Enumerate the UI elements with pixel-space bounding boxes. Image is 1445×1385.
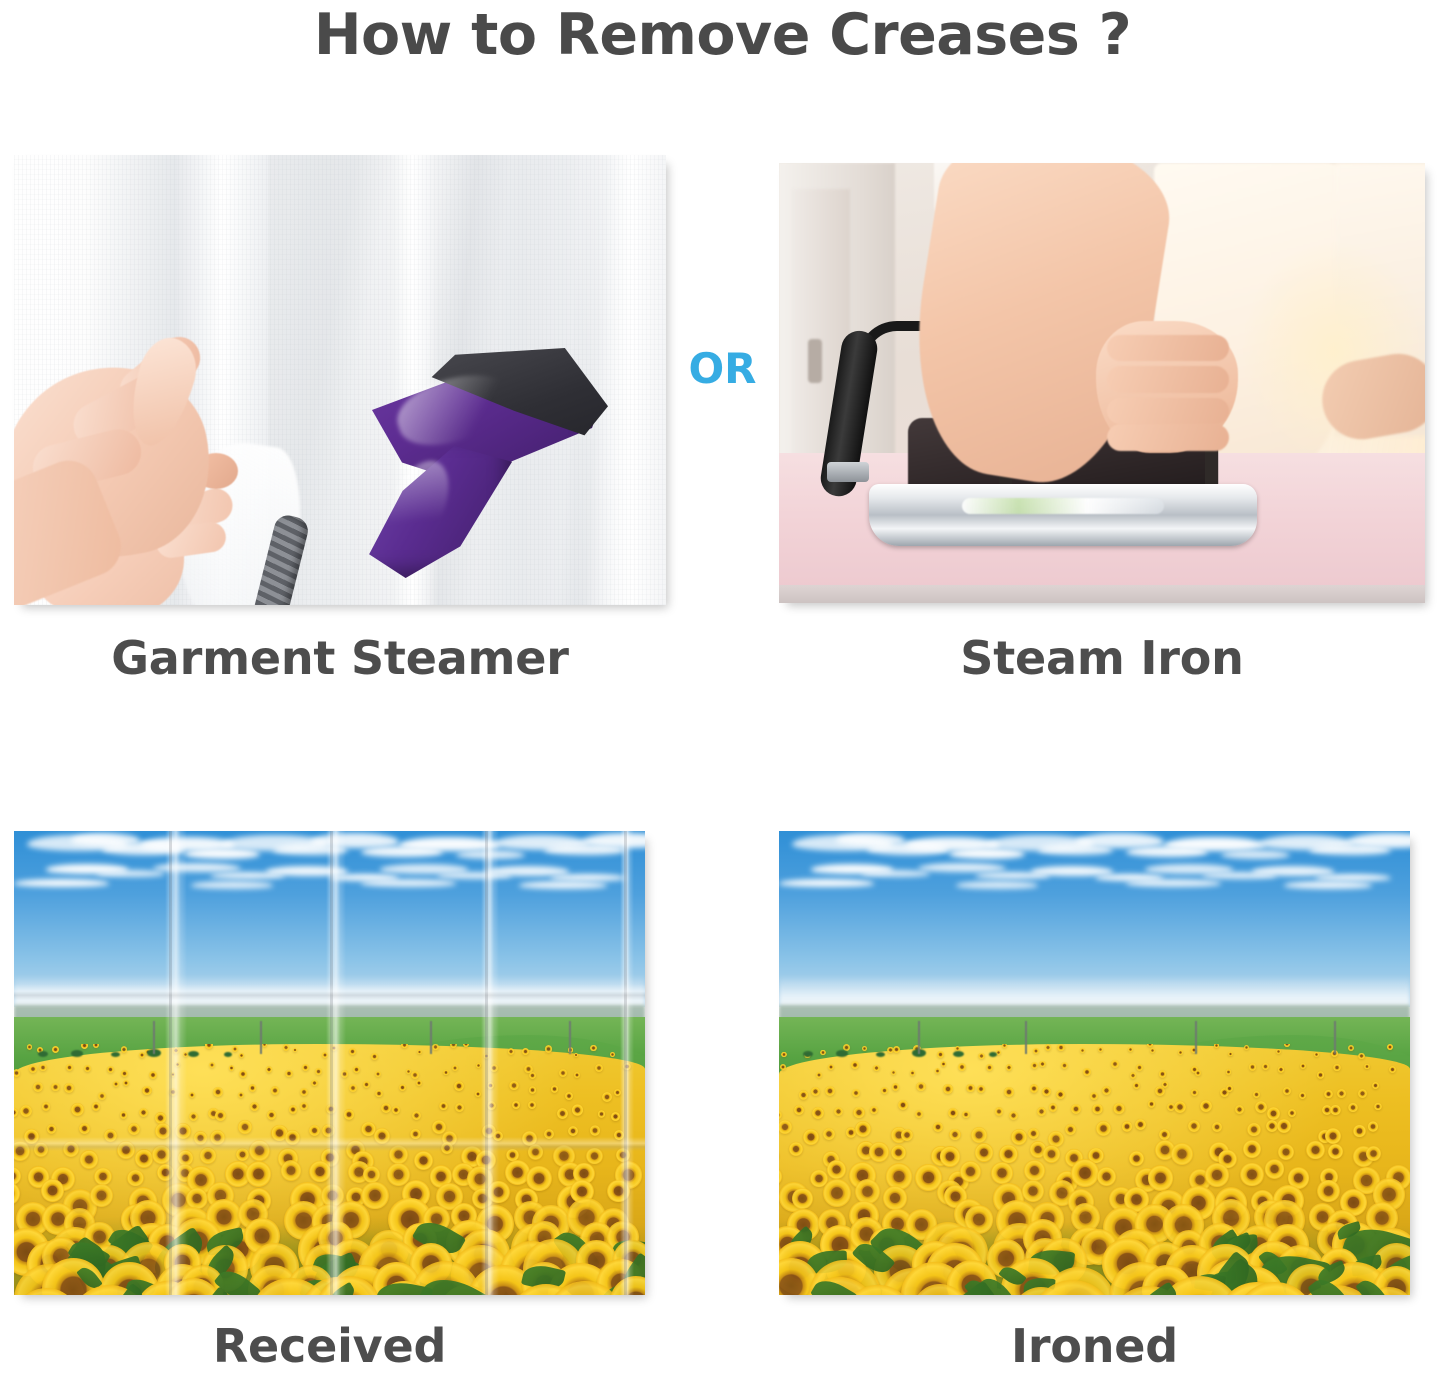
sunflower [1092, 1104, 1102, 1114]
sunflower [522, 1048, 529, 1055]
sunflower [1037, 1107, 1045, 1115]
sunflower [825, 1086, 835, 1096]
iron-soleplate [869, 484, 1257, 546]
sunflower [870, 1106, 878, 1114]
cloud [1076, 833, 1164, 848]
sunflower [1212, 1122, 1222, 1132]
sunflower [949, 1129, 961, 1141]
sunflower [361, 1182, 389, 1210]
sunflower [246, 1161, 272, 1187]
sunflower [1188, 1120, 1200, 1132]
sunflower [1205, 1163, 1229, 1187]
sunflower [281, 1160, 302, 1181]
sunflower [127, 1170, 144, 1187]
sunflower [375, 1090, 383, 1098]
sunflower [79, 1123, 90, 1134]
steamer-icon [334, 350, 644, 605]
steam-iron-photo [779, 163, 1425, 603]
sunflower [1314, 1052, 1319, 1057]
sunflower [623, 1063, 630, 1070]
sunflower [20, 1105, 32, 1117]
sunflower [528, 1144, 544, 1160]
sunflower [614, 1089, 621, 1096]
sunflower [1097, 1167, 1116, 1186]
sunflower [823, 1179, 851, 1207]
sunflower [194, 1131, 208, 1145]
sunflower [209, 1062, 215, 1068]
sunflower-field-scene [779, 831, 1410, 1295]
sunflower [1009, 1111, 1018, 1120]
sunflower [1364, 1064, 1370, 1070]
sunflower [528, 1101, 536, 1109]
sunflower [1071, 1159, 1099, 1187]
sunflower [598, 1110, 605, 1117]
iron-soleplate-shine [962, 498, 1164, 514]
sunflower [941, 1061, 947, 1067]
sunflower [610, 1052, 615, 1057]
sunflower [1174, 1101, 1186, 1113]
sunflower [572, 1104, 583, 1115]
sunflower [574, 1072, 580, 1078]
sunflower [300, 1102, 308, 1110]
sunflower [213, 1087, 223, 1097]
sunflower [1226, 1069, 1232, 1075]
sunflower [891, 1145, 906, 1160]
sunflower [574, 1053, 579, 1058]
sunflower [267, 1110, 276, 1119]
sunflower [827, 1160, 846, 1179]
sunflower [24, 1129, 39, 1144]
cloud [1284, 881, 1372, 888]
sunflower [1191, 1089, 1198, 1096]
cloud [361, 879, 456, 886]
sunflower [915, 1110, 923, 1118]
sunflower [34, 1142, 48, 1156]
sunflower [823, 1128, 835, 1140]
sunflower [1214, 1044, 1219, 1047]
sunflower [792, 1188, 813, 1209]
sunflower [1096, 1121, 1111, 1136]
sunflower [152, 1145, 171, 1164]
sunflower [1358, 1089, 1367, 1098]
sunflower [991, 1162, 1013, 1184]
utility-pole [569, 1021, 571, 1053]
sunflower [779, 1120, 792, 1134]
sunflower [309, 1125, 320, 1136]
sunflower [14, 1108, 18, 1117]
cloud [456, 850, 525, 859]
sunflower [363, 1081, 370, 1088]
sunflower [476, 1063, 481, 1068]
sunflower [1330, 1105, 1340, 1115]
sunflower [1300, 1063, 1306, 1069]
sunflower [1061, 1062, 1069, 1070]
sunflower [1283, 1087, 1291, 1095]
cloud [1221, 850, 1290, 859]
cloud [550, 874, 626, 881]
sunflower [490, 1064, 498, 1072]
sunflower [1328, 1144, 1343, 1159]
cloud-layer [779, 831, 1410, 1017]
sunflower [852, 1089, 861, 1098]
sunflower [487, 1181, 510, 1204]
cloud [266, 866, 348, 875]
sunflower [779, 1111, 782, 1119]
sunflower [41, 1179, 64, 1202]
infographic-root: How to Remove Creases ? [0, 0, 1445, 1385]
sunflower [1284, 1044, 1289, 1046]
sunflower [71, 1103, 84, 1116]
sunflower [799, 1090, 808, 1099]
sunflower [344, 1109, 354, 1119]
sunflower [935, 1068, 940, 1073]
sunflower [1148, 1100, 1156, 1108]
sunflower [1030, 1084, 1039, 1093]
sunflower [529, 1086, 537, 1094]
sunflower [39, 1064, 47, 1072]
sunflower [557, 1108, 568, 1119]
sunflower [29, 1065, 37, 1073]
sunflower [416, 1080, 422, 1086]
sunflower [432, 1044, 439, 1050]
sunflower [595, 1064, 603, 1072]
sunflower [94, 1168, 111, 1185]
tree [111, 1052, 120, 1057]
sunflower [1324, 1090, 1333, 1099]
sunflower [1387, 1044, 1393, 1049]
sunflower [971, 1127, 987, 1143]
sunflower [834, 1107, 843, 1116]
or-separator-label: OR [666, 345, 779, 393]
sunflower [1348, 1045, 1354, 1051]
sunflower [869, 1142, 889, 1162]
sunflower [487, 1082, 494, 1089]
sunflower [1159, 1070, 1167, 1078]
sunflower [779, 1167, 782, 1186]
sunflower [454, 1081, 464, 1091]
sunflower [940, 1146, 961, 1167]
tree [71, 1050, 83, 1057]
cloud [1252, 866, 1334, 875]
sunflower [1253, 1091, 1261, 1099]
cloud [956, 881, 1038, 888]
garment-steamer-photo [14, 155, 666, 605]
sunflower [84, 1065, 91, 1072]
utility-pole [430, 1021, 432, 1053]
sunflower [175, 1062, 180, 1067]
sunflower [239, 1070, 247, 1078]
sunflower [1366, 1146, 1381, 1161]
finger-two [1107, 366, 1229, 392]
sunflower [933, 1122, 943, 1132]
sunflower [586, 1148, 602, 1164]
sunflower [410, 1129, 421, 1140]
sunflower [341, 1070, 349, 1078]
sunflower [392, 1106, 400, 1114]
sunflower [1317, 1180, 1340, 1203]
sunflower [526, 1166, 551, 1191]
sunflower [412, 1111, 421, 1120]
sunflower [1090, 1092, 1098, 1100]
sunflower [1240, 1163, 1263, 1186]
sunflower [1372, 1082, 1379, 1089]
sunflower [414, 1151, 433, 1170]
sunflower [236, 1148, 249, 1161]
sunflower [853, 1107, 865, 1119]
sunflower [1358, 1053, 1364, 1059]
sunflower [215, 1110, 226, 1121]
sunflower [475, 1091, 481, 1097]
sunflower [616, 1148, 630, 1162]
cloud [487, 866, 569, 875]
sunflower [1159, 1129, 1170, 1140]
sunflower [155, 1123, 171, 1139]
sunflower [189, 1112, 198, 1121]
sunflower [1162, 1081, 1168, 1087]
sunflower [1244, 1045, 1249, 1050]
sunflower [80, 1150, 99, 1169]
sunflower [1049, 1103, 1058, 1112]
sunflower [1306, 1141, 1324, 1159]
sunflower [399, 1084, 407, 1092]
sunflower [169, 1088, 177, 1096]
sunflower [90, 1184, 113, 1207]
cloud [311, 833, 399, 848]
received-caption: Received [14, 1318, 645, 1374]
sunflower [789, 1142, 803, 1156]
sunflower [200, 1147, 216, 1163]
sunflower [1247, 1123, 1260, 1136]
sunflower [999, 1145, 1017, 1163]
sunflower-layer [779, 1044, 1410, 1295]
sunflower [311, 1080, 317, 1086]
sunflower [1133, 1082, 1141, 1090]
sunflower [509, 1081, 519, 1091]
tree [989, 1052, 997, 1057]
sunflower [1333, 1064, 1340, 1071]
cloud [14, 879, 109, 886]
sunflower [432, 1120, 446, 1134]
sunflower [450, 1044, 457, 1048]
sunflower [1111, 1060, 1118, 1067]
sunflower [1276, 1049, 1281, 1054]
sunflower [1299, 1092, 1306, 1099]
sunflower [828, 1064, 834, 1070]
sunflower [1136, 1064, 1143, 1071]
sunflower [326, 1104, 336, 1114]
cloud [861, 870, 930, 877]
sunflower [229, 1065, 234, 1070]
sunflower [1389, 1066, 1396, 1073]
sunflower [1130, 1072, 1137, 1079]
sunflower [1317, 1071, 1325, 1079]
sunflower [812, 1107, 824, 1119]
sunflower [1083, 1068, 1091, 1076]
door-handle [808, 339, 822, 383]
sunflower [551, 1085, 559, 1093]
sunflower [463, 1044, 469, 1047]
sunflower [1195, 1070, 1200, 1075]
cloud-layer [14, 831, 645, 1017]
iron-hose-cuff [827, 462, 869, 482]
sunflower [943, 1084, 953, 1094]
sunflower [1056, 1090, 1065, 1099]
sunflower [64, 1083, 74, 1093]
sunflower [1122, 1121, 1132, 1131]
sunflower [411, 1071, 419, 1079]
cloud [1315, 874, 1391, 881]
sunflower [611, 1112, 620, 1121]
sunflower [873, 1065, 880, 1072]
cloud [153, 863, 241, 872]
sunflower [1249, 1063, 1257, 1071]
sunflower [892, 1083, 899, 1090]
sunflower [155, 1112, 167, 1124]
sunflower [1278, 1144, 1294, 1160]
sunflower [881, 1087, 888, 1094]
sunflower [559, 1069, 567, 1077]
sunflower [1278, 1066, 1285, 1073]
sunflower [175, 1123, 191, 1139]
sunflower [614, 1130, 624, 1140]
received-backdrop-photo [14, 831, 645, 1295]
sunflower [375, 1071, 381, 1077]
cloud [96, 870, 165, 877]
cloud [1126, 879, 1221, 886]
tree [803, 1051, 813, 1057]
sunflower [14, 1069, 20, 1077]
sunflower [439, 1102, 448, 1111]
sunflower [63, 1141, 79, 1157]
sunflower [883, 1186, 907, 1210]
sunflower [266, 1066, 273, 1073]
tree [953, 1051, 964, 1057]
tree-line [14, 1040, 418, 1057]
sunflower [51, 1083, 59, 1091]
sunflower [1071, 1104, 1081, 1114]
sunflower [349, 1084, 357, 1092]
sunflower [1039, 1061, 1045, 1067]
sunflower [249, 1140, 270, 1161]
sunflower [1102, 1086, 1111, 1095]
sunflower [1228, 1052, 1233, 1057]
utility-pole [1195, 1021, 1197, 1053]
sunflower [171, 1072, 176, 1077]
sunflower [1353, 1125, 1365, 1137]
tree [836, 1050, 848, 1057]
sunflower [249, 1084, 257, 1092]
sunflower [33, 1082, 43, 1092]
sunflower [1265, 1159, 1284, 1178]
sunflower [117, 1141, 135, 1159]
sunflower [855, 1121, 871, 1137]
sunflower [302, 1064, 309, 1071]
sunflower [1325, 1128, 1341, 1144]
sunflower [607, 1180, 630, 1203]
sunflower [210, 1130, 225, 1145]
sunflower [121, 1070, 128, 1077]
sunflower [1267, 1107, 1279, 1119]
cloud [191, 881, 273, 888]
cloud [779, 879, 874, 886]
sunflower [1022, 1180, 1044, 1202]
utility-pole [260, 1021, 262, 1053]
sunflower [1200, 1100, 1212, 1112]
sunflower [1042, 1087, 1051, 1096]
sunflower [1011, 1129, 1027, 1145]
sunflower [803, 1129, 819, 1145]
sunflower [484, 1053, 490, 1059]
utility-pole [1025, 1021, 1027, 1053]
finger-three [1107, 398, 1229, 424]
sunflower [565, 1092, 573, 1100]
sunflower [1148, 1165, 1174, 1191]
sunflower [602, 1092, 612, 1102]
sunflower [1374, 1103, 1382, 1111]
sunflower [780, 1064, 786, 1070]
sunflower [995, 1107, 1004, 1116]
ironing-board-edge [779, 585, 1425, 603]
sunflower [811, 1087, 819, 1095]
page-title: How to Remove Creases ? [0, 0, 1445, 72]
sunflower [107, 1066, 115, 1074]
sunflower [1368, 1121, 1379, 1132]
sunflower [1043, 1145, 1060, 1162]
sunflower [1135, 1119, 1146, 1130]
tree [38, 1051, 48, 1057]
cloud [519, 881, 607, 888]
sunflower [443, 1070, 449, 1076]
sunflower [493, 1131, 503, 1141]
sunflower [1171, 1143, 1193, 1165]
sunflower [66, 1064, 74, 1072]
sunflower [417, 1050, 422, 1055]
cloud [918, 863, 1006, 872]
sunflower [1129, 1151, 1144, 1166]
sunflower [128, 1123, 140, 1135]
sunflower [322, 1124, 335, 1137]
sunflower [353, 1066, 360, 1073]
ironed-backdrop-photo [779, 831, 1410, 1295]
sunflower [910, 1070, 916, 1076]
sunflower [568, 1126, 578, 1136]
sunflower [816, 1072, 822, 1078]
sunflower [1348, 1103, 1358, 1113]
sunflower [389, 1145, 408, 1164]
sunflower [1065, 1124, 1076, 1135]
utility-pole [1334, 1021, 1336, 1053]
cloud [1347, 833, 1410, 848]
tree-line [779, 1040, 1183, 1057]
sunflower [916, 1082, 926, 1092]
sunflower [1277, 1119, 1291, 1133]
finger-one [1107, 335, 1229, 361]
sunflower [590, 1045, 597, 1052]
garment-steamer-caption: Garment Steamer [14, 630, 666, 686]
sunflower [545, 1045, 553, 1053]
sunflower [142, 1086, 152, 1096]
sunflower [958, 1063, 966, 1071]
utility-pole [153, 1021, 155, 1053]
sunflower [315, 1068, 322, 1075]
sunflower [14, 1141, 30, 1161]
sunflower [92, 1102, 101, 1111]
cloud [582, 833, 645, 848]
sunflower [544, 1129, 554, 1139]
finger-four [1107, 424, 1229, 450]
sunflower [901, 1129, 913, 1141]
sunflower [1243, 1140, 1261, 1158]
